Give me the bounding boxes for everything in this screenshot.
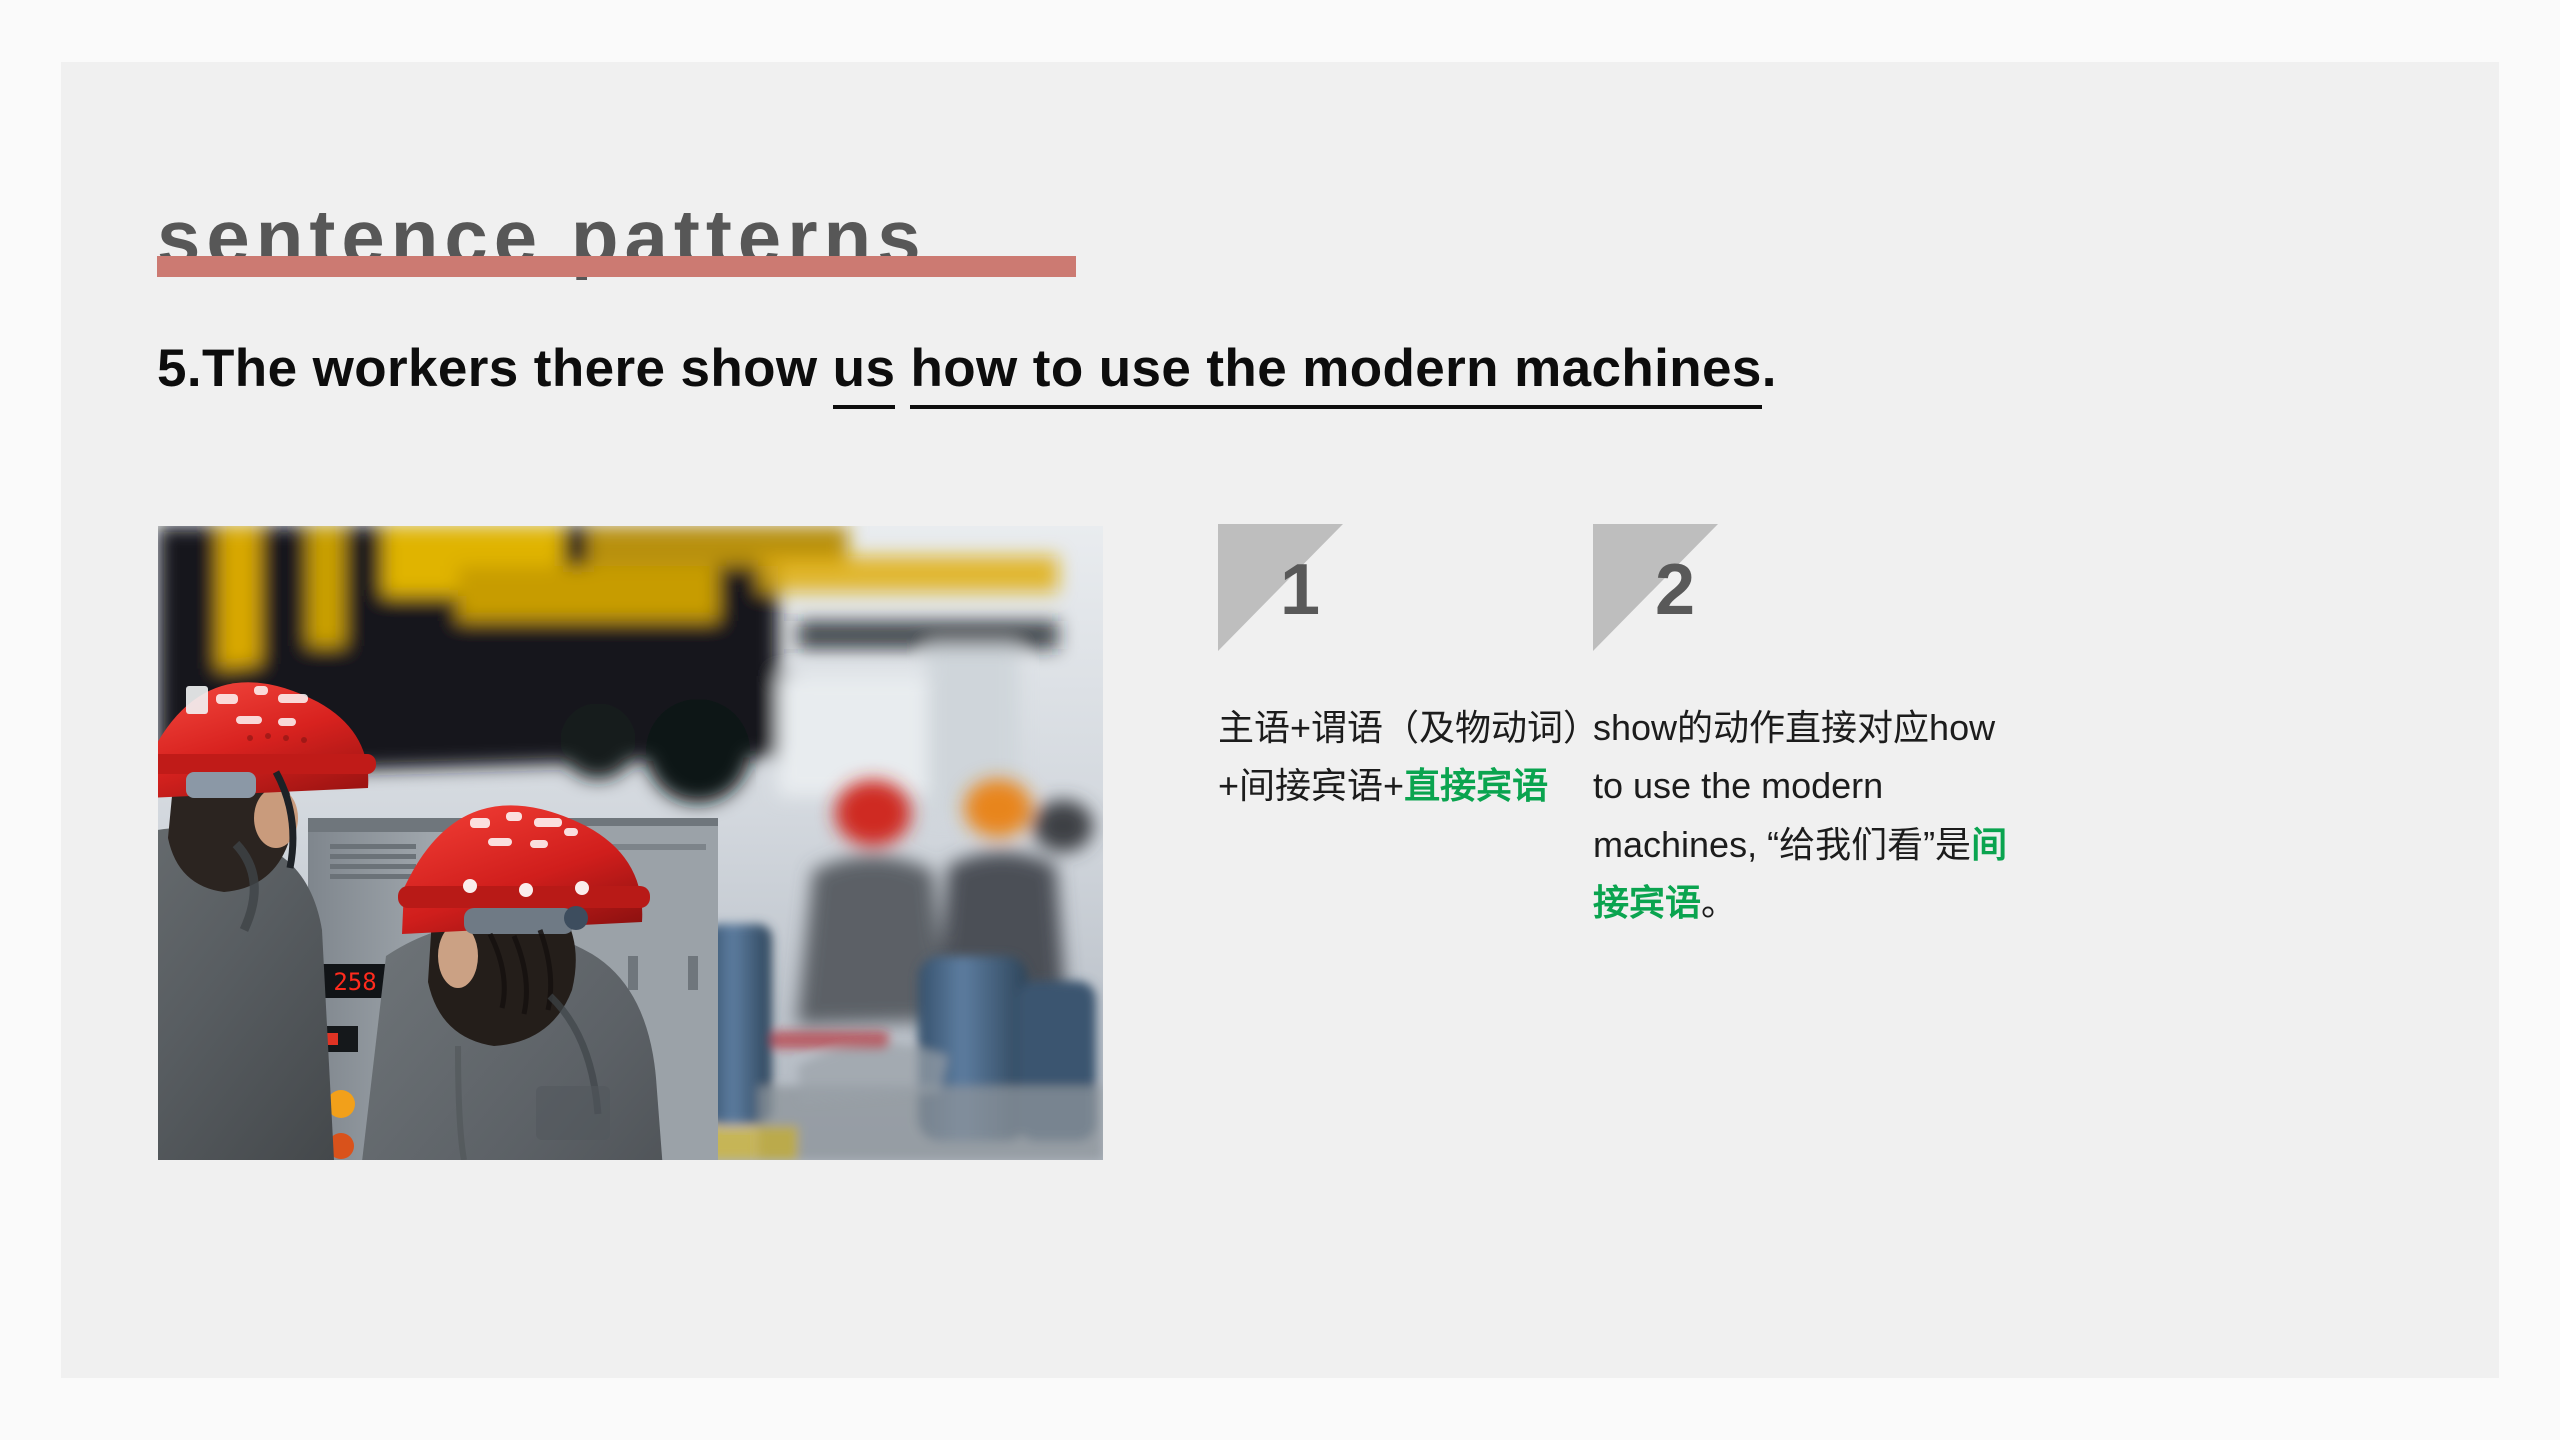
title-underline-bar <box>157 256 1076 277</box>
photo-illustration: 258 <box>158 526 1103 1160</box>
note-2-tail: 。 <box>1701 882 1737 923</box>
note-marker-1: 1 <box>1218 524 1343 651</box>
example-sentence: 5.The workers there show us how to use t… <box>157 337 1777 401</box>
note-2-plain: show的动作直接对应how to use the modern machine… <box>1593 707 1995 865</box>
factory-workers-photo: 258 <box>158 526 1103 1160</box>
slide-panel: sentence patterns 5.The workers there sh… <box>61 62 2499 1378</box>
sentence-number: 5. <box>157 339 202 398</box>
svg-text:258: 258 <box>333 968 376 996</box>
sentence-period: . <box>1762 339 1777 398</box>
note-1-highlight: 直接宾语 <box>1404 765 1548 806</box>
sentence-part-1: The workers there show <box>202 339 833 398</box>
note-text-2: show的动作直接对应how to use the modern machine… <box>1593 651 2023 932</box>
note-column-1: 1 主语+谓语（及物动词）+间接宾语+直接宾语 <box>1218 524 1648 816</box>
note-column-2: 2 show的动作直接对应how to use the modern machi… <box>1593 524 2023 932</box>
note-marker-number: 1 <box>1280 554 1320 626</box>
note-marker-2: 2 <box>1593 524 1718 651</box>
sentence-underline-direct-object: how to use the modern machines <box>910 339 1761 409</box>
sentence-gap <box>895 339 910 398</box>
note-marker-number: 2 <box>1655 554 1695 626</box>
sentence-underline-indirect-object: us <box>833 339 896 409</box>
note-text-1: 主语+谓语（及物动词）+间接宾语+直接宾语 <box>1218 651 1648 816</box>
